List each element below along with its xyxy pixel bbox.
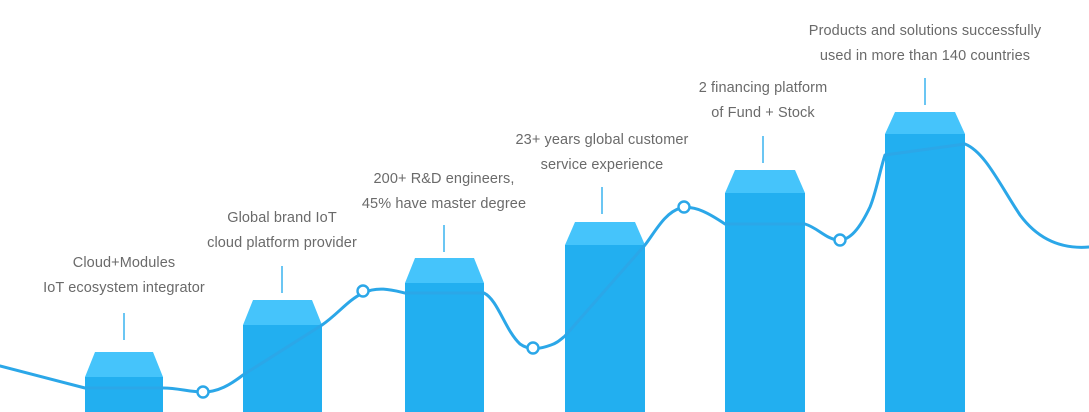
bar-label-1-line-1: cloud platform provider: [0, 231, 827, 256]
bar-label-4-line-1: of Fund + Stock: [219, 101, 1089, 126]
bar-label-2-line-1: 45% have master degree: [0, 192, 989, 217]
bar-label-0: Cloud+ModulesIoT ecosystem integrator: [0, 251, 669, 301]
bar-label-5: Products and solutions successfullyused …: [381, 19, 1089, 69]
milestone-infographic: Cloud+ModulesIoT ecosystem integratorGlo…: [0, 0, 1089, 412]
bar-label-5-line-1: used in more than 140 countries: [381, 44, 1089, 69]
bar-label-3-line-1: service experience: [58, 153, 1089, 178]
bar-label-3-line-0: 23+ years global customer: [58, 128, 1089, 153]
bar-label-0-line-1: IoT ecosystem integrator: [0, 276, 669, 301]
bar-label-3: 23+ years global customerservice experie…: [58, 128, 1089, 178]
bar-label-4-line-0: 2 financing platform: [219, 76, 1089, 101]
bar-label-5-line-0: Products and solutions successfully: [381, 19, 1089, 44]
bar-label-4: 2 financing platformof Fund + Stock: [219, 76, 1089, 126]
